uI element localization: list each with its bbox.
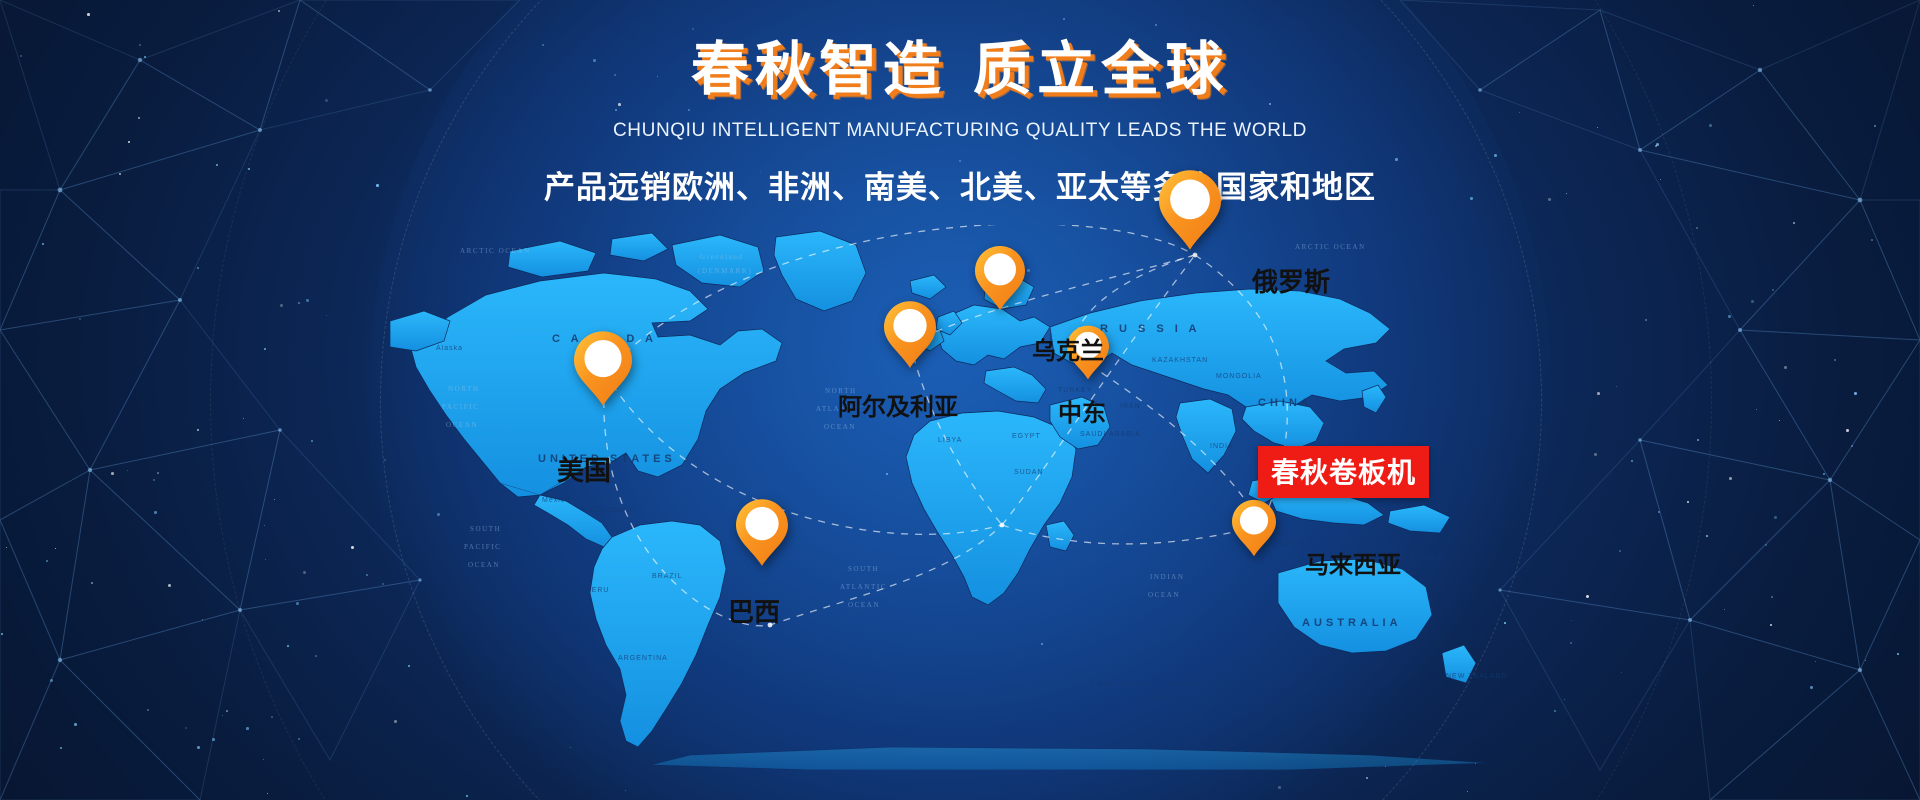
map-pin-malaysia[interactable] xyxy=(1232,499,1276,557)
star-dot xyxy=(1,633,3,635)
star-dot xyxy=(202,619,203,620)
star-dot xyxy=(212,738,215,741)
star-dot xyxy=(147,709,149,711)
star-dot xyxy=(298,302,300,304)
star-dot xyxy=(111,472,114,475)
star-dot xyxy=(157,472,159,474)
star-dot xyxy=(287,645,289,647)
star-dot xyxy=(1815,661,1816,662)
star-dot xyxy=(1772,289,1774,291)
star-dot xyxy=(185,727,187,729)
star-dot xyxy=(50,679,53,682)
star-dot xyxy=(91,582,93,584)
star-dot xyxy=(1779,420,1780,421)
star-dot xyxy=(1756,409,1757,410)
star-dot xyxy=(127,470,128,471)
star-dot xyxy=(1846,429,1849,432)
star-dot xyxy=(692,28,694,30)
map-pin-brazil[interactable] xyxy=(736,498,788,567)
hero-banner: 春秋智造 质立全球 CHUNQIU INTELLIGENT MANUFACTUR… xyxy=(0,0,1920,800)
star-dot xyxy=(296,602,299,605)
star-dot xyxy=(197,429,199,431)
star-dot xyxy=(1774,516,1777,519)
star-dot xyxy=(1810,686,1813,689)
star-dot xyxy=(466,795,468,797)
star-dot xyxy=(267,793,268,794)
star-dot xyxy=(1619,550,1621,552)
star-dot xyxy=(168,584,171,587)
map-pin-label-ukraine: 乌克兰 xyxy=(1032,331,1104,366)
map-pin-label-usa: 美国 xyxy=(557,449,611,488)
star-dot xyxy=(1631,460,1633,462)
star-dot xyxy=(1770,624,1772,626)
star-dot xyxy=(1854,392,1857,395)
star-dot xyxy=(246,727,249,730)
star-dot xyxy=(87,13,90,16)
star-dot xyxy=(271,716,273,718)
star-dot xyxy=(60,747,62,749)
star-dot xyxy=(197,267,199,269)
star-dot xyxy=(278,10,280,12)
star-dot xyxy=(1851,445,1853,447)
star-dot xyxy=(1696,227,1698,229)
map-pin-label-brazil: 巴西 xyxy=(728,592,780,629)
star-dot xyxy=(264,348,266,350)
star-dot xyxy=(382,583,384,585)
star-dot xyxy=(226,710,228,712)
product-badge[interactable]: 春秋卷板机 xyxy=(1258,446,1429,498)
page-title: 春秋智造 质立全球 xyxy=(0,40,1920,98)
star-dot xyxy=(222,715,223,716)
star-dot xyxy=(1706,535,1708,537)
star-dot xyxy=(1594,453,1597,456)
headline-block: 春秋智造 质立全球 CHUNQIU INTELLIGENT MANUFACTUR… xyxy=(0,40,1920,207)
map-pin-label-algeria: 阿尔及利亚 xyxy=(838,387,958,422)
star-dot xyxy=(280,304,283,307)
star-dot xyxy=(1728,315,1731,318)
map-pin-ukraine[interactable] xyxy=(975,245,1025,311)
map-pin-label-middleeast: 中东 xyxy=(1058,393,1106,428)
star-dot xyxy=(315,655,317,657)
star-dot xyxy=(1871,239,1873,241)
star-dot xyxy=(42,243,44,245)
star-dot xyxy=(1751,300,1754,303)
star-dot xyxy=(1765,544,1767,546)
star-dot xyxy=(1897,653,1899,655)
star-dot xyxy=(197,746,200,749)
map-pin-label-malaysia: 马来西亚 xyxy=(1305,545,1401,580)
star-dot xyxy=(46,560,48,562)
star-dot xyxy=(55,548,56,549)
page-subtitle-en: CHUNQIU INTELLIGENT MANUFACTURING QUALIT… xyxy=(0,120,1920,142)
star-dot xyxy=(153,479,155,481)
map-pin-russia[interactable] xyxy=(1159,169,1221,251)
star-dot xyxy=(263,759,264,760)
star-dot xyxy=(1597,392,1600,395)
star-dot xyxy=(154,511,157,514)
star-dot xyxy=(1729,477,1732,480)
star-dot xyxy=(1823,473,1825,475)
star-dot xyxy=(79,318,81,320)
star-dot xyxy=(1753,5,1754,6)
star-dot xyxy=(1784,366,1787,369)
star-dot xyxy=(1834,359,1836,361)
star-dot xyxy=(1793,222,1795,224)
star-dot xyxy=(1278,786,1281,789)
star-dot xyxy=(1771,596,1773,598)
star-dot xyxy=(384,459,386,461)
star-dot xyxy=(74,723,77,726)
map-pin-label-russia: 俄罗斯 xyxy=(1252,262,1330,299)
star-dot xyxy=(1697,439,1699,441)
map-pin-usa[interactable] xyxy=(574,330,632,407)
star-dot xyxy=(1724,609,1725,610)
star-dot xyxy=(306,299,309,302)
page-tagline-cn: 产品远销欧洲、非洲、南美、北美、亚太等多个国家和地区 xyxy=(0,162,1920,207)
star-dot xyxy=(6,547,7,548)
map-pin-algeria[interactable] xyxy=(884,300,936,369)
star-dot xyxy=(1865,660,1866,661)
